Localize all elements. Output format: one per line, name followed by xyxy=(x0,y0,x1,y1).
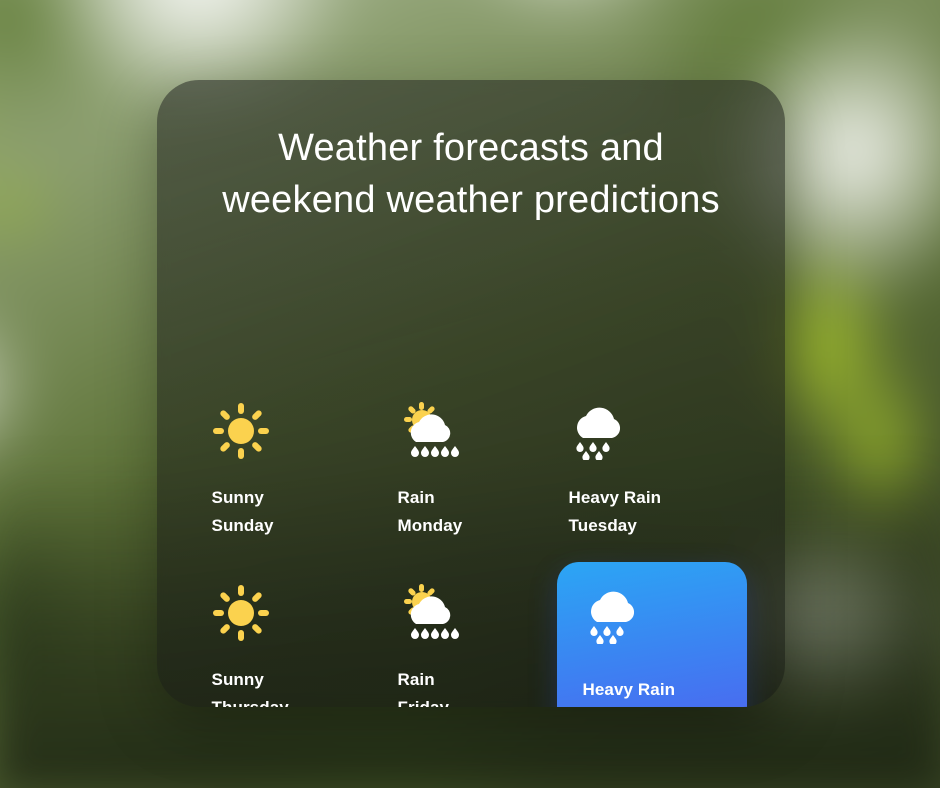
forecast-label: Sunny Thursday xyxy=(212,666,386,707)
forecast-label: Sunny Sunday xyxy=(212,484,386,539)
forecast-card-friday[interactable]: Rain Friday xyxy=(386,562,557,707)
forecast-label: Rain Friday xyxy=(398,666,557,707)
forecast-label: Rain Monday xyxy=(398,484,557,539)
forecast-grid: Sunny Sunday xyxy=(157,380,785,707)
forecast-label: Heavy Rain Saturday xyxy=(583,676,747,707)
sun-rain-icon xyxy=(398,400,557,462)
forecast-card-sunday[interactable]: Sunny Sunday xyxy=(200,380,386,562)
forecast-card-tuesday[interactable]: Heavy Rain Tuesday xyxy=(557,380,747,562)
sun-icon xyxy=(212,400,386,462)
sun-icon xyxy=(212,582,386,644)
forecast-label: Heavy Rain Tuesday xyxy=(569,484,747,539)
page-title: Weather forecasts and weekend weather pr… xyxy=(157,80,785,226)
weather-glass-panel: Weather forecasts and weekend weather pr… xyxy=(157,80,785,707)
forecast-card-monday[interactable]: Rain Monday xyxy=(386,380,557,562)
forecast-card-saturday[interactable]: Heavy Rain Saturday xyxy=(557,562,747,707)
cloud-rain-icon xyxy=(583,584,747,646)
cloud-rain-icon xyxy=(569,400,747,462)
forecast-card-thursday[interactable]: Sunny Thursday xyxy=(200,562,386,707)
sun-rain-icon xyxy=(398,582,557,644)
screen: Weather forecasts and weekend weather pr… xyxy=(0,0,940,788)
